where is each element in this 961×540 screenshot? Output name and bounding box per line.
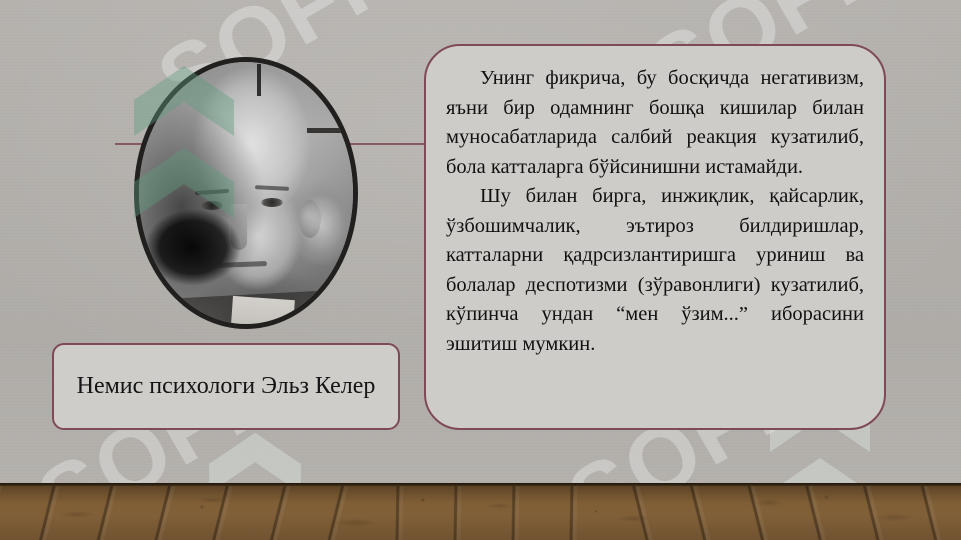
floor-background (0, 483, 961, 540)
floor-edge-line (0, 483, 961, 486)
body-text-panel: Унинг фикрича, бу босқичда негативизм, я… (424, 44, 886, 430)
portrait-caption-box: Немис психологи Эльз Келер (52, 343, 400, 430)
portrait-artifact (307, 128, 349, 133)
floor-shading-overlay (0, 483, 961, 540)
portrait-caption-text: Немис психологи Эльз Келер (63, 372, 390, 401)
portrait-artifact (257, 64, 261, 96)
body-paragraph: Унинг фикрича, бу босқичда негативизм, я… (446, 64, 864, 182)
portrait-feature (261, 198, 283, 207)
watermark-logo-icon (128, 62, 240, 230)
slide-canvas: SOFF SOFF SOFF SOFF (0, 0, 961, 540)
body-paragraph: Шу билан бирга, инжиқлик, қайсарлик, ўзб… (446, 182, 864, 359)
portrait-feature (299, 200, 321, 238)
